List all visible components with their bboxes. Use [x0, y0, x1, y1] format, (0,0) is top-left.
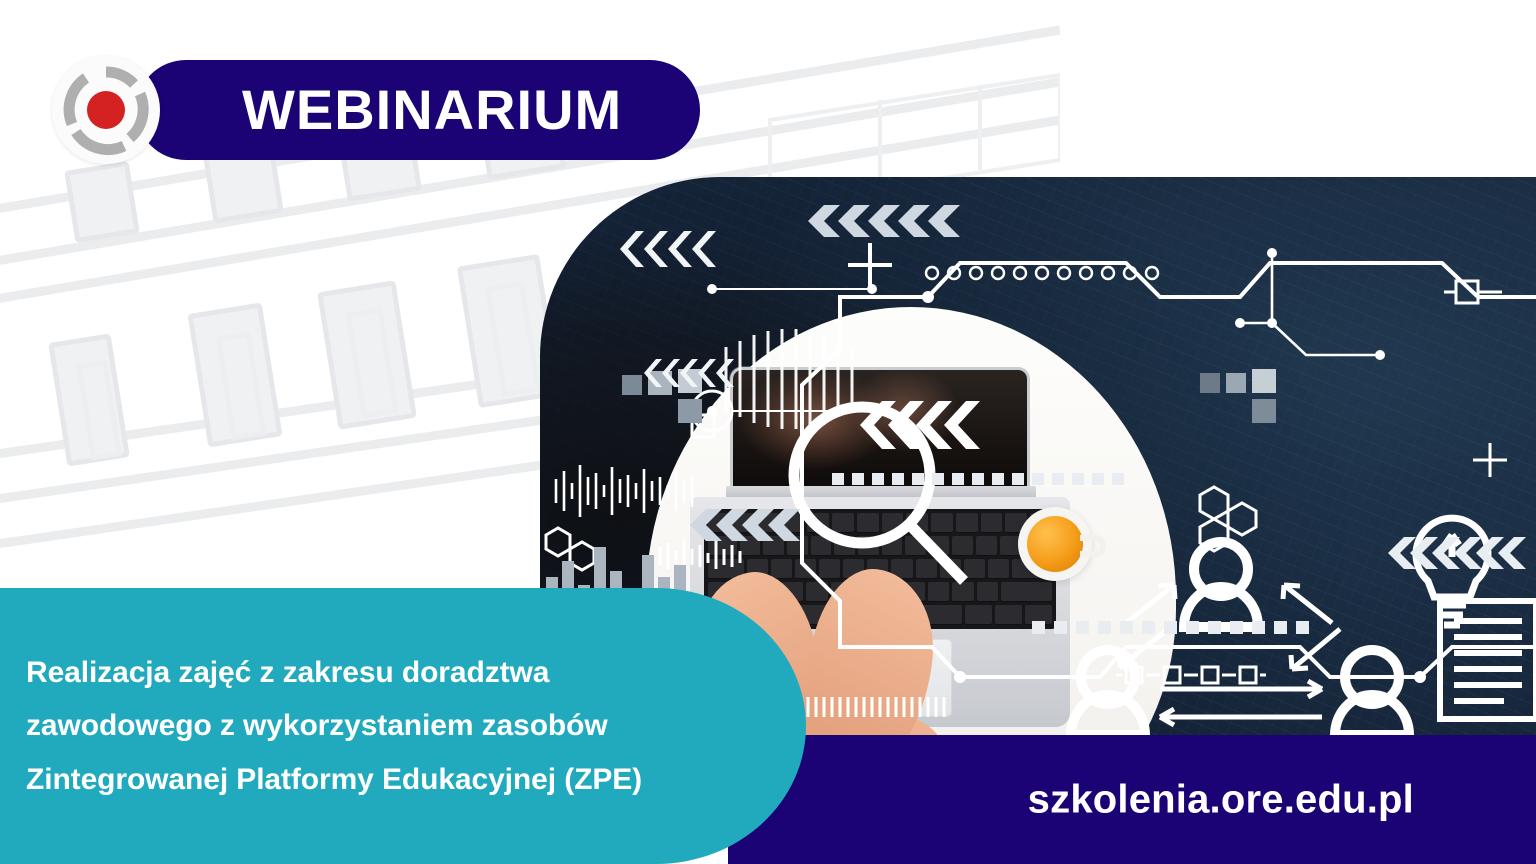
badge-label: WEBINARIUM: [242, 82, 622, 138]
coffee-cup-handle: [1080, 535, 1106, 557]
laptop-screen: [730, 367, 1030, 489]
footer-bar: szkolenia.ore.edu.pl: [728, 735, 1536, 864]
record-circle-icon: [52, 56, 160, 164]
webinar-title: Realizacja zajęć z zakresu doradztwa zaw…: [26, 646, 796, 806]
poster-canvas: szkolenia.ore.edu.pl Realizacja zajęć z …: [0, 0, 1536, 864]
title-panel: Realizacja zajęć z zakresu doradztwa zaw…: [0, 588, 806, 864]
title-line-3: Zintegrowanej Platformy Edukacyjnej (ZPE…: [26, 753, 796, 806]
website-url[interactable]: szkolenia.ore.edu.pl: [1028, 777, 1414, 822]
badge-pill: WEBINARIUM: [136, 60, 700, 160]
title-line-2: zawodowego z wykorzystaniem zasobów: [26, 699, 796, 752]
title-line-1: Realizacja zajęć z zakresu doradztwa: [26, 646, 796, 699]
